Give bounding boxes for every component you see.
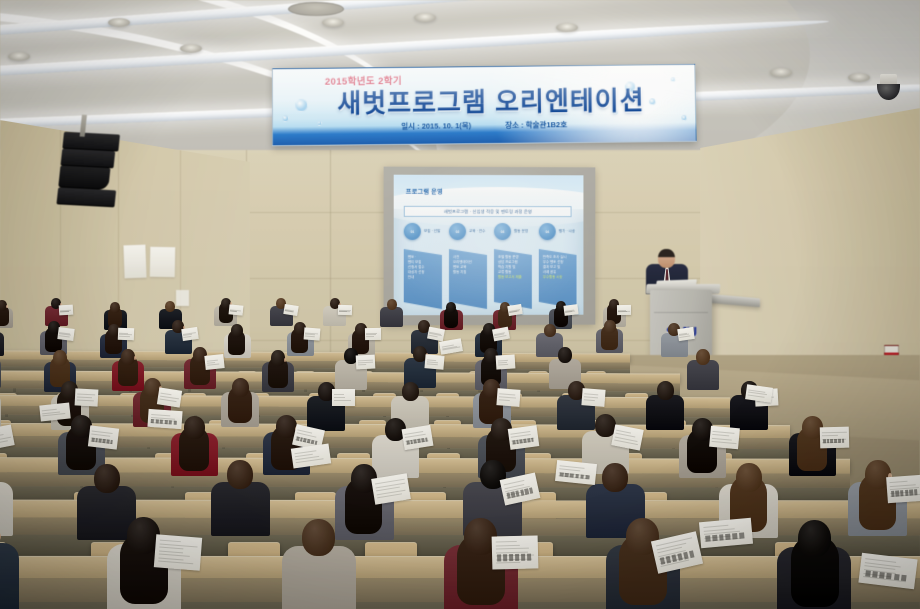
audience-member-ear (284, 358, 286, 362)
audience-member-head (558, 347, 572, 363)
wall-notice (176, 290, 189, 306)
audience-member-head (121, 349, 135, 365)
handout-paper (425, 354, 445, 370)
desk-surface (0, 500, 920, 519)
slide-step-circle: 04 (539, 223, 556, 240)
handout-paper (492, 535, 539, 569)
handout-paper (355, 355, 375, 370)
slide-panel: 멘토 · 멘티 모집 신청서 접수 대상자 선정 안내 (404, 249, 442, 309)
handout-paper (284, 304, 299, 316)
handout-paper (57, 327, 74, 341)
handout-paper (497, 388, 521, 407)
slide-step-circle: 02 (449, 223, 466, 240)
handout-paper (820, 427, 850, 449)
handout-paper (117, 328, 133, 341)
audience-member-head (387, 299, 397, 310)
audience-member-head (657, 381, 674, 400)
audience-member-torso (211, 482, 270, 536)
audience-member-ear (134, 356, 136, 360)
downlight-icon (108, 18, 130, 27)
audience-member-head (110, 302, 120, 313)
slide-title: 프로그램 운영 (406, 187, 443, 196)
handout-paper (402, 425, 434, 450)
audience-member-head (184, 416, 205, 439)
handout-paper (581, 388, 605, 407)
audience-member-head (227, 460, 253, 489)
audience-member-head (165, 301, 175, 312)
audience-member-torso (0, 332, 4, 356)
downlight-icon (180, 44, 202, 53)
audience-member-head (696, 349, 710, 365)
handout-paper (709, 426, 740, 450)
handout-paper (39, 402, 71, 421)
audience-member-head (94, 464, 120, 493)
slide-panel: 만족도 조사 실시 우수 멘토 선정 결과 보고 및 사례 공유 우수활동 시상 (539, 249, 577, 309)
audience-member-torso (646, 395, 684, 430)
downlight-icon (414, 13, 436, 22)
slide-step-label: 활동 운영 (514, 229, 528, 234)
slide-step-circle: 03 (494, 223, 511, 240)
handout-paper (332, 389, 355, 406)
projected-slide: 프로그램 운영 새벗프로그램 · 신입생 적응 및 멘토링 과정 운영 01 모… (394, 175, 584, 316)
audience-member-torso (380, 307, 403, 327)
handout-paper (886, 475, 920, 503)
slide-subtitle-bar: 새벗프로그램 · 신입생 적응 및 멘토링 과정 운영 (404, 206, 572, 217)
ceiling-speaker-grille-icon (288, 2, 344, 16)
audience-member-head (402, 382, 419, 401)
slide-step-label: 모집 · 선발 (424, 229, 440, 234)
handout-paper (496, 354, 516, 369)
handout-paper (75, 388, 99, 406)
handout-paper (59, 305, 74, 316)
handout-paper (677, 327, 695, 341)
handout-paper (182, 327, 200, 341)
handout-paper (555, 460, 597, 485)
handout-paper (228, 304, 243, 315)
handout-paper (156, 387, 181, 407)
handout-paper (365, 328, 381, 340)
handout-paper (338, 305, 352, 315)
audience-member-head (271, 350, 285, 366)
banner-date: 일시 : 2015. 10. 1(목) (401, 120, 471, 132)
banner-title: 새벗프로그램 오리엔테이션 (311, 80, 671, 121)
downlight-icon (848, 73, 870, 82)
slide-step-circle: 01 (404, 223, 421, 240)
slide-step-label: 평가 · 시상 (559, 229, 575, 234)
downlight-icon (8, 52, 30, 61)
slide-step-circles: 01 모집 · 선발 02 교육 · 연수 03 활동 운영 04 평가 · 시… (404, 223, 576, 245)
slide-panel: 조별 활동 운영 상담 프로그램 학습 지원 및 교류 활동 활동 보고서 제출 (494, 249, 532, 309)
lecture-hall-photo: 2015학년도 2학기 새벗프로그램 오리엔테이션 일시 : 2015. 10.… (0, 0, 920, 609)
handout-paper (617, 305, 631, 315)
downlight-icon (556, 23, 578, 32)
handout-paper (699, 518, 753, 548)
presenter-head (658, 249, 675, 268)
audience-member-head (232, 378, 249, 397)
banner-place: 장소 : 학술관1B2호 (505, 119, 567, 131)
handout-paper (427, 327, 445, 342)
audience-member-torso (0, 543, 19, 609)
handout-paper (304, 327, 321, 340)
audience-member-torso (0, 482, 13, 536)
wall-notice (150, 247, 176, 277)
handout-paper (563, 304, 578, 316)
handout-paper (508, 425, 540, 450)
wall-notice (123, 245, 146, 279)
handout-paper (154, 534, 202, 570)
slide-step-label: 교육 · 연수 (469, 229, 485, 234)
audience-member-head (53, 350, 67, 366)
audience-member-head (302, 519, 335, 556)
audience-member-head (736, 463, 762, 492)
line-array-speaker (56, 132, 122, 213)
audience-member-head (446, 302, 456, 313)
audience-member-head (602, 463, 628, 492)
event-banner: 2015학년도 2학기 새벗프로그램 오리엔테이션 일시 : 2015. 10.… (272, 64, 697, 146)
handout-paper (204, 354, 224, 370)
audience-member-head (231, 324, 243, 337)
downlight-icon (770, 68, 792, 77)
audience-member-head (798, 520, 831, 557)
audience-member-head (544, 324, 556, 337)
slide-panel: 사전 오리엔테이션 멘토 교육 활동 지침 (449, 249, 487, 309)
downlight-icon (322, 18, 344, 27)
handout-paper (147, 409, 182, 429)
handout-paper (88, 425, 119, 449)
audience-member-torso (687, 360, 719, 390)
audience-member-head (604, 320, 616, 333)
